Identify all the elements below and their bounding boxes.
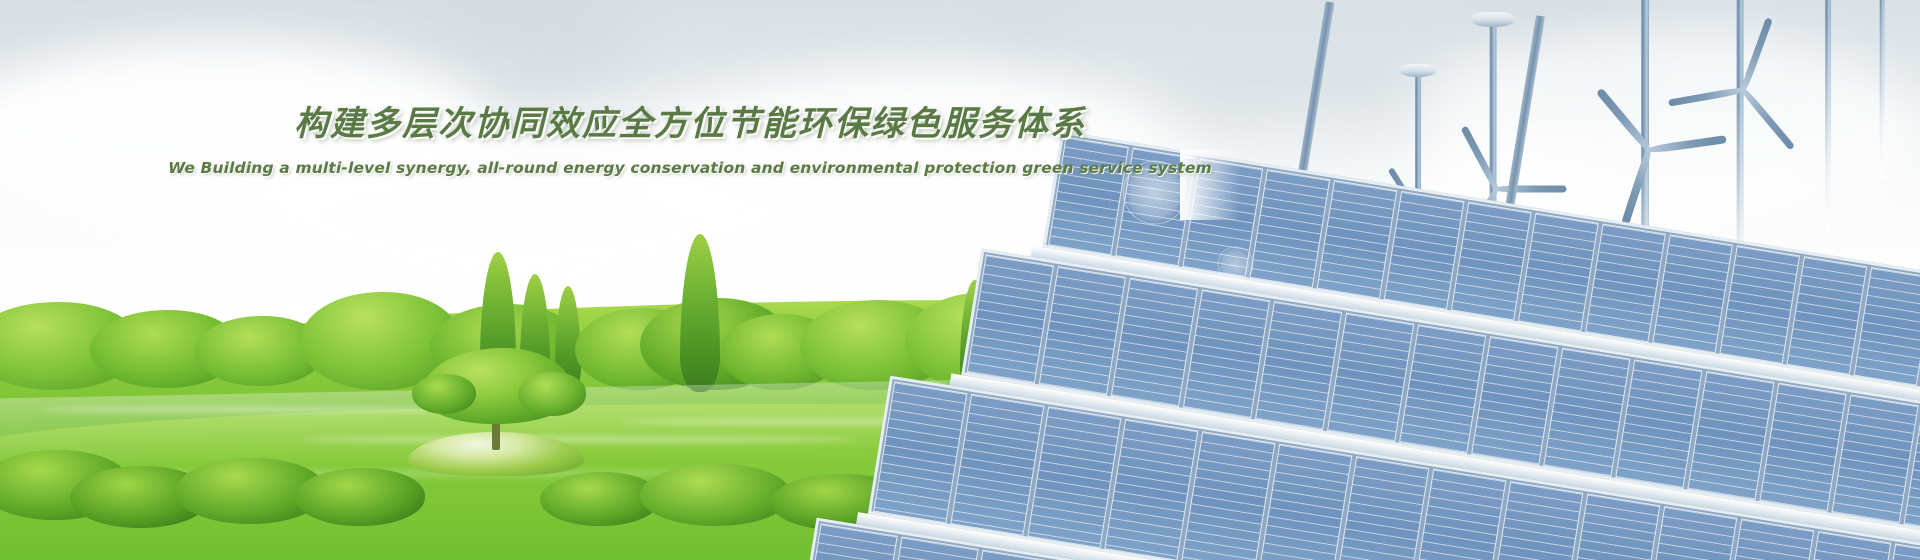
eco-energy-hero-banner: 构建多层次协同效应全方位节能环保绿色服务体系 We Building a mul… (0, 0, 1920, 560)
banner-copy: 构建多层次协同效应全方位节能环保绿色服务体系 We Building a mul… (0, 96, 1380, 177)
wind-turbine (1862, 0, 1902, 180)
page-title: 构建多层次协同效应全方位节能环保绿色服务体系 (0, 96, 1380, 145)
wind-turbine (1808, 0, 1848, 230)
page-subtitle: We Building a multi-level synergy, all-r… (0, 159, 1380, 177)
foreground-tree (408, 348, 588, 458)
